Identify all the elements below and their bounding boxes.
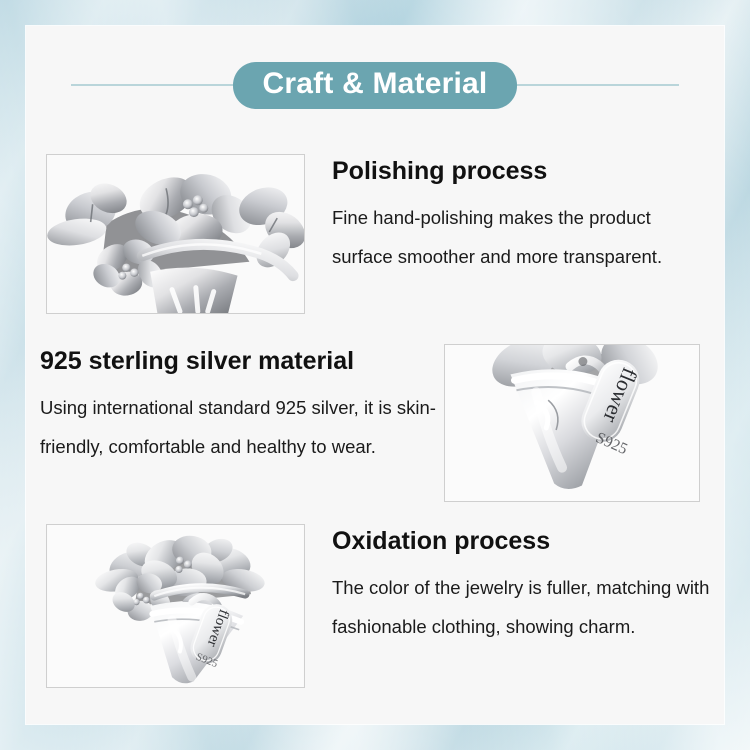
section-header: Craft & Material xyxy=(26,62,724,108)
section-title-oxidation: Oxidation process xyxy=(332,526,712,556)
section-body-oxidation: The color of the jewelry is fuller, matc… xyxy=(332,568,712,646)
flower-bouquet-charm-full-icon: flower S925 xyxy=(47,525,304,687)
section-title-sterling-silver: 925 sterling silver material xyxy=(40,346,445,376)
engraved-flower-tag-closeup-icon: flower S925 xyxy=(445,345,699,501)
section-body-sterling-silver: Using international standard 925 silver,… xyxy=(40,388,445,466)
header-rule-right xyxy=(503,84,679,86)
product-photo-oxidation: flower S925 xyxy=(47,525,304,687)
product-photo-frame-oxidation: flower S925 xyxy=(46,524,305,688)
header-badge: Craft & Material xyxy=(233,62,518,109)
section-copy-polishing: Polishing process Fine hand-polishing ma… xyxy=(332,156,702,276)
product-photo-polishing xyxy=(47,155,304,313)
content-panel: Craft & Material xyxy=(26,26,724,724)
section-copy-oxidation: Oxidation process The color of the jewel… xyxy=(332,526,712,646)
section-copy-sterling-silver: 925 sterling silver material Using inter… xyxy=(40,346,445,466)
product-photo-frame-polishing xyxy=(46,154,305,314)
product-detail-poster: Craft & Material xyxy=(0,0,750,750)
product-photo-sterling-silver: flower S925 xyxy=(445,345,699,501)
silver-flower-charm-closeup-icon xyxy=(47,155,304,313)
product-photo-frame-sterling-silver: flower S925 xyxy=(444,344,700,502)
header-rule-left xyxy=(71,84,247,86)
section-title-polishing: Polishing process xyxy=(332,156,702,186)
section-body-polishing: Fine hand-polishing makes the product su… xyxy=(332,198,702,276)
